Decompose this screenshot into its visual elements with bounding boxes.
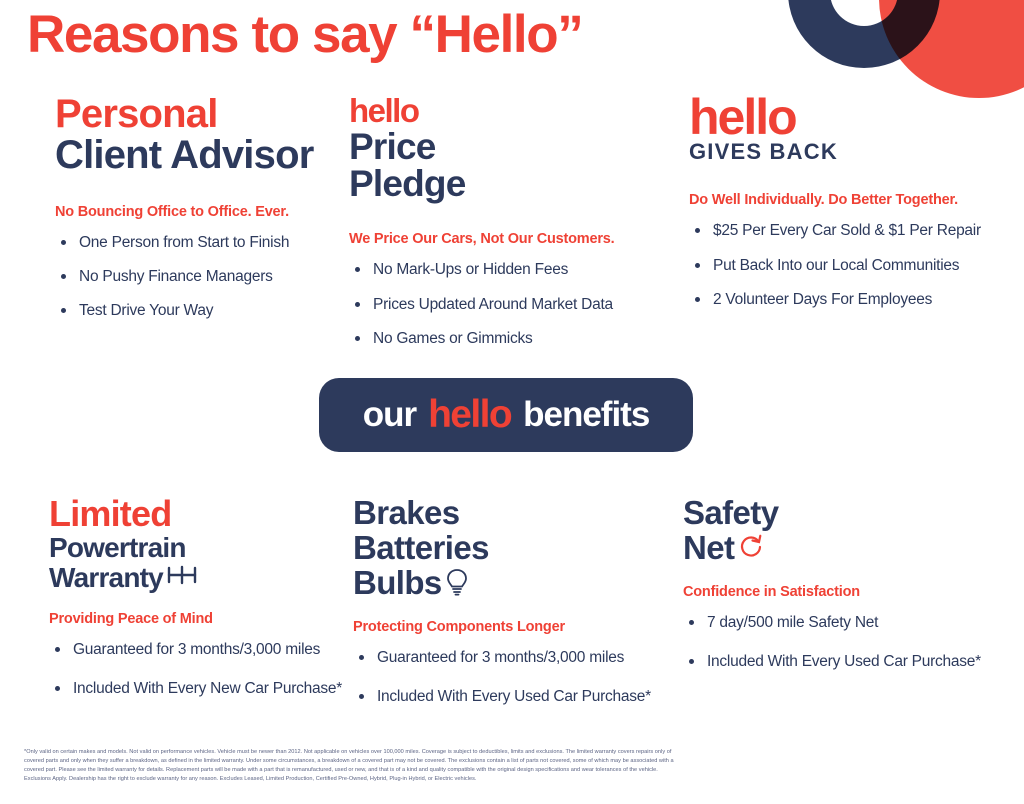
column-hello-price-pledge: hello Price Pledge We Price Our Cars, No… bbox=[335, 94, 675, 363]
column-safety-net: Safety Net Confidence in Satisfaction bbox=[675, 496, 1024, 727]
heading-line-navy: Client Advisor bbox=[55, 135, 335, 176]
our-hello-benefits-banner: our hello benefits bbox=[319, 378, 693, 452]
list-item: No Games or Gimmicks bbox=[349, 329, 675, 348]
heading-line-navy: GIVES BACK bbox=[689, 140, 1024, 164]
heading-hello-price-pledge: hello Price Pledge bbox=[349, 94, 675, 203]
banner-word-benefits: benefits bbox=[523, 395, 649, 435]
list-item: Guaranteed for 3 months/3,000 miles bbox=[49, 640, 335, 659]
subheading-price-pledge: We Price Our Cars, Not Our Customers. bbox=[349, 231, 675, 247]
subheading-warranty: Providing Peace of Mind bbox=[49, 611, 335, 627]
list-item: $25 Per Every Car Sold & $1 Per Repair bbox=[689, 221, 1024, 240]
bullet-list-safety-net: 7 day/500 mile Safety Net Included With … bbox=[683, 613, 1024, 672]
bullet-list-warranty: Guaranteed for 3 months/3,000 miles Incl… bbox=[49, 640, 335, 699]
hello-wordmark: hello bbox=[349, 94, 675, 128]
drivetrain-axle-icon bbox=[165, 562, 199, 592]
list-item: Prices Updated Around Market Data bbox=[349, 295, 675, 314]
heading-line-navy-1: Price bbox=[349, 128, 675, 166]
heading-line-navy-2: Pledge bbox=[349, 165, 675, 203]
list-item: No Pushy Finance Managers bbox=[55, 267, 335, 286]
list-item: Test Drive Your Way bbox=[55, 301, 335, 320]
heading-line-navy-1: Brakes bbox=[353, 496, 675, 531]
legal-fine-print: *Only valid on certain makes and models.… bbox=[24, 748, 1004, 784]
list-item: No Mark-Ups or Hidden Fees bbox=[349, 260, 675, 279]
list-item: One Person from Start to Finish bbox=[55, 233, 335, 252]
list-item: 2 Volunteer Days For Employees bbox=[689, 290, 1024, 309]
heading-line-navy-1: Safety bbox=[683, 496, 1024, 531]
fineprint-line: Exclusions Apply. Dealership has the rig… bbox=[24, 775, 1004, 784]
bottom-column-row: Limited Powertrain Warranty bbox=[0, 496, 1024, 727]
subheading-brakes: Protecting Components Longer bbox=[353, 619, 675, 635]
subheading-safety-net: Confidence in Satisfaction bbox=[683, 584, 1024, 600]
heading-limited-powertrain-warranty: Limited Powertrain Warranty bbox=[49, 496, 335, 593]
list-item: Included With Every Used Car Purchase* bbox=[353, 687, 675, 706]
list-item: Included With Every Used Car Purchase* bbox=[683, 652, 1024, 671]
hello-wordmark: hello bbox=[689, 94, 1024, 140]
top-column-row: Personal Client Advisor No Bouncing Offi… bbox=[0, 94, 1024, 363]
fineprint-line: *Only valid on certain makes and models.… bbox=[24, 748, 1004, 757]
page-title: Reasons to say “Hello” bbox=[27, 8, 582, 61]
column-personal-client-advisor: Personal Client Advisor No Bouncing Offi… bbox=[0, 94, 335, 363]
column-brakes-batteries-bulbs: Brakes Batteries Bulbs bbox=[335, 496, 675, 727]
heading-brakes-batteries-bulbs: Brakes Batteries Bulbs bbox=[353, 496, 675, 601]
lightbulb-icon bbox=[444, 567, 470, 601]
list-item: Included With Every New Car Purchase* bbox=[49, 679, 335, 698]
fineprint-line: covered parts and only when they suffer … bbox=[24, 757, 1004, 766]
heading-line-navy-2: Net bbox=[683, 531, 734, 566]
banner-word-our: our bbox=[363, 395, 416, 435]
heading-personal-client-advisor: Personal Client Advisor bbox=[55, 94, 335, 176]
column-hello-gives-back: hello GIVES BACK Do Well Individually. D… bbox=[675, 94, 1024, 363]
heading-hello-gives-back: hello GIVES BACK bbox=[689, 94, 1024, 164]
bullet-list-gives-back: $25 Per Every Car Sold & $1 Per Repair P… bbox=[689, 221, 1024, 309]
heading-line-navy-2: Warranty bbox=[49, 563, 163, 593]
circular-arrow-icon bbox=[736, 532, 766, 566]
heading-safety-net: Safety Net bbox=[683, 496, 1024, 566]
banner-word-hello: hello bbox=[428, 393, 511, 437]
heading-line-navy-2: Batteries bbox=[353, 531, 675, 566]
red-circle bbox=[879, 0, 1024, 98]
heading-line-navy-1: Powertrain bbox=[49, 533, 335, 563]
heading-line-red: Limited bbox=[49, 496, 335, 533]
bullet-list-personal: One Person from Start to Finish No Pushy… bbox=[55, 233, 335, 321]
subheading-gives-back: Do Well Individually. Do Better Together… bbox=[689, 192, 1024, 208]
fineprint-line: covered part. Please see the limited war… bbox=[24, 766, 1004, 775]
list-item: 7 day/500 mile Safety Net bbox=[683, 613, 1024, 632]
heading-line-navy-3: Bulbs bbox=[353, 566, 442, 601]
bullet-list-price-pledge: No Mark-Ups or Hidden Fees Prices Update… bbox=[349, 260, 675, 348]
bullet-list-brakes: Guaranteed for 3 months/3,000 miles Incl… bbox=[353, 648, 675, 707]
list-item: Put Back Into our Local Communities bbox=[689, 256, 1024, 275]
column-limited-powertrain-warranty: Limited Powertrain Warranty bbox=[0, 496, 335, 727]
subheading-personal: No Bouncing Office to Office. Ever. bbox=[55, 204, 335, 220]
marketing-page: Reasons to say “Hello” Personal Client A… bbox=[0, 0, 1024, 804]
heading-line-red: Personal bbox=[55, 94, 335, 135]
navy-ring bbox=[788, 0, 940, 68]
list-item: Guaranteed for 3 months/3,000 miles bbox=[353, 648, 675, 667]
